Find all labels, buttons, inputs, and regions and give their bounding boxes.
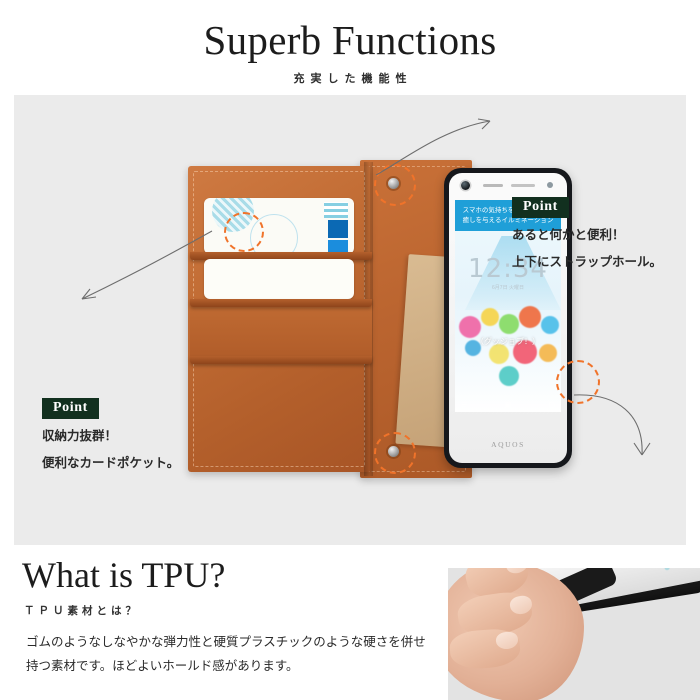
lockscreen-date: 6月7日 火曜日 [455, 284, 561, 291]
highlight-ring-strap-bottom [374, 432, 416, 474]
dock-camera-icon: ▢ [548, 401, 555, 409]
earpiece-slot-icon [511, 184, 535, 187]
pocket-lip-bottom [190, 356, 372, 364]
illumination-bubbles [455, 310, 561, 412]
product-feature-page: Superb Functions 充実した機能性 [0, 0, 700, 700]
page-title: Superb Functions [0, 0, 700, 61]
phone-chin: AQUOS [455, 431, 561, 457]
pocket-lip-middle [190, 299, 372, 307]
phone-brand-label: AQUOS [491, 440, 525, 449]
callout-strap-line-2: 上下にストラップホール。 [512, 252, 662, 272]
point-badge-strap: Point [512, 197, 569, 218]
earpiece-speaker-icon [483, 184, 503, 187]
dock-menu-icon: ☰ [461, 401, 467, 409]
card-slot-blank [204, 259, 354, 299]
dock-apps-icon: ▣ [505, 401, 512, 409]
callout-strap-line-1: あると何かと便利！ [512, 225, 662, 245]
callout-strap-hole: Point あると何かと便利！ 上下にストラップホール。 [512, 197, 662, 273]
page-header: Superb Functions 充実した機能性 [0, 0, 700, 95]
proximity-sensor-icon [547, 182, 553, 188]
bubble-blue-icon [541, 316, 559, 334]
hand-photo-inner [448, 568, 700, 700]
tpu-subtitle: ＴＰＵ素材とは？ [24, 603, 140, 618]
front-camera-icon [461, 181, 470, 190]
card-pattern-block2-icon [328, 240, 348, 252]
phone-top-bezel [449, 173, 567, 199]
callout-pocket-line-1: 収納力抜群！ [42, 426, 179, 446]
highlight-ring-strap-top [374, 164, 416, 206]
highlight-ring-phone-hold [556, 360, 600, 404]
hero-panel: スマホの気持ちをヒカリで表現 癒しを与えるイルミネーション 12:34 6月7日… [14, 95, 686, 545]
bubble-teal-icon [499, 366, 519, 386]
screen-caption: （グッジョブ！） [455, 336, 561, 347]
screen-dock: ☰ ▣ ▢ [455, 401, 561, 409]
point-badge-pocket: Point [42, 398, 99, 419]
card-pattern-stripe-icon [324, 202, 348, 218]
tpu-body-text: ゴムのようなしなやかな弾力性と硬質プラスチックのような硬さを併せ持つ素材です。ほ… [26, 630, 436, 679]
bubble-orange-icon [519, 306, 541, 328]
tpu-title: What is TPU? [22, 557, 225, 593]
card-pattern-block-icon [328, 220, 348, 238]
page-subtitle: 充実した機能性 [0, 70, 700, 86]
tpu-hand-photo [448, 568, 700, 700]
bubble-yellow-icon [481, 308, 499, 326]
card-pocket-deep [190, 304, 372, 360]
highlight-ring-card-pocket [224, 212, 264, 252]
callout-pocket-line-2: 便利なカードポケット。 [42, 453, 179, 473]
callout-card-pocket: Point 収納力抜群！ 便利なカードポケット。 [42, 398, 179, 474]
bubble-green-icon [499, 314, 519, 334]
bubble-yellow2-icon [489, 344, 509, 364]
bubble-pink-icon [459, 316, 481, 338]
